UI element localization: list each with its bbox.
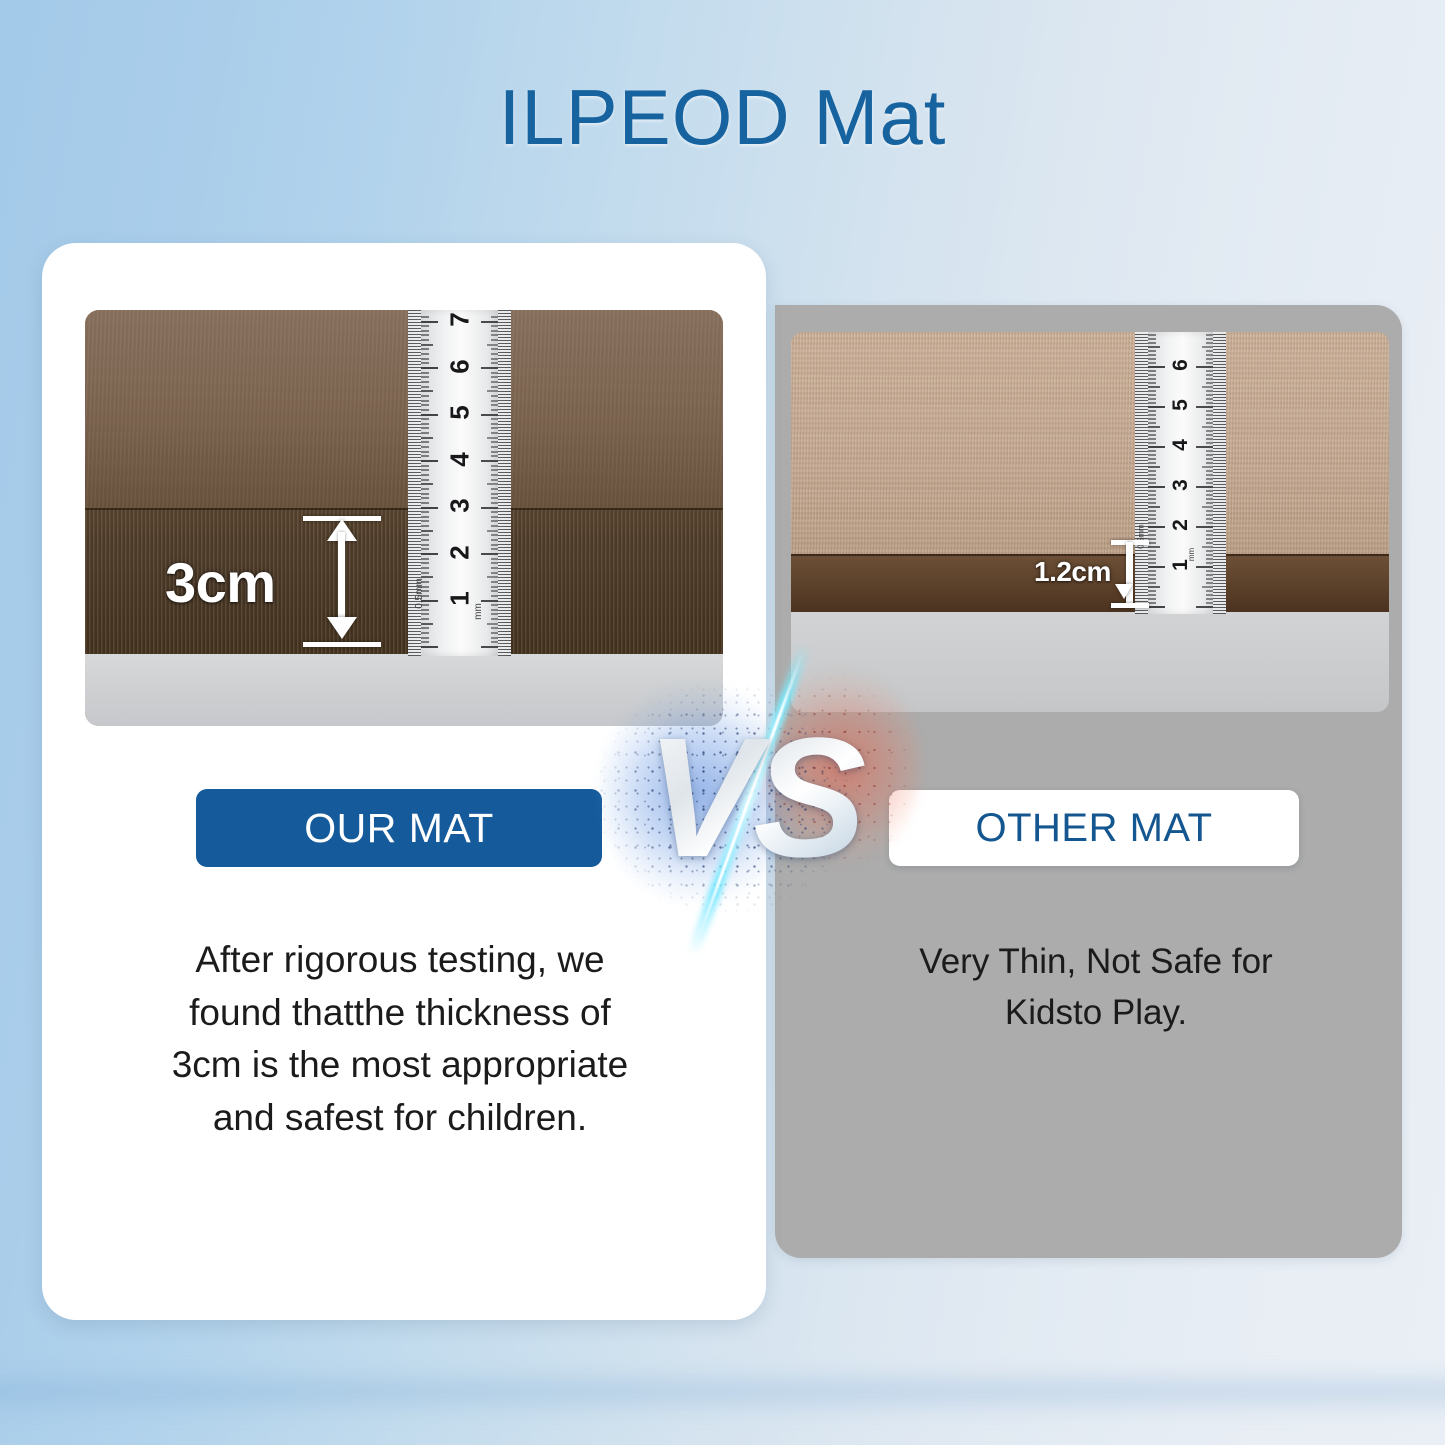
- ruler-tick: [421, 627, 429, 629]
- ruler-tick: [1148, 490, 1156, 492]
- ruler-tick: [1206, 390, 1213, 392]
- ruler-tick: [491, 479, 498, 481]
- ruler-tick: [421, 441, 429, 443]
- ruler-tick: [421, 381, 429, 383]
- ruler-tick: [491, 497, 498, 499]
- ruler-knurl-right-icon: [1213, 332, 1226, 614]
- ruler-tick: [1206, 590, 1213, 592]
- ruler-tick: [1202, 586, 1213, 588]
- ruler-tick: [1148, 346, 1160, 348]
- ruler-tick: [1148, 342, 1156, 344]
- ruler-tick: [1148, 522, 1156, 524]
- ruler-tick: [491, 618, 498, 620]
- ruler-tick: [1148, 454, 1156, 456]
- ruler-tick: [1206, 518, 1213, 520]
- ruler-tick: [1206, 362, 1213, 364]
- ruler-tick: [491, 502, 498, 504]
- ruler-tick: [1196, 526, 1213, 528]
- other-thickness-dimension: [1111, 540, 1149, 608]
- ruler-tick: [1148, 498, 1156, 500]
- ruler-tick: [491, 465, 498, 467]
- ruler-tick: [1148, 530, 1156, 532]
- ruler-tick: [1206, 334, 1213, 336]
- ruler-tick: [421, 637, 429, 639]
- ruler-tick: [1148, 402, 1156, 404]
- ruler-tick: [1148, 450, 1156, 452]
- ruler-tick: [421, 623, 433, 625]
- ruler-tick: [421, 414, 438, 416]
- ruler-tick: [421, 600, 438, 602]
- ruler-tick: [421, 344, 433, 346]
- ruler-tick: [1206, 578, 1213, 580]
- ruler-tick: [421, 427, 429, 429]
- our-mat-description: After rigorous testing, we found thatthe…: [122, 934, 678, 1144]
- ruler-tick: [421, 479, 429, 481]
- ruler-tick: [491, 316, 498, 318]
- ruler-tick: [1206, 418, 1213, 420]
- ruler-tick: [1148, 594, 1156, 596]
- ruler-tick: [421, 465, 429, 467]
- ruler-tick: [491, 423, 498, 425]
- other-mat-photo: 0.5mm mm 7654321 1.2cm: [791, 332, 1389, 712]
- ruler-tick: [421, 604, 429, 606]
- our-mat-surface: [85, 310, 723, 512]
- ruler-tick: [1148, 434, 1156, 436]
- our-mat-floor: [85, 654, 723, 726]
- ruler-tick: [421, 339, 429, 341]
- ruler-tick: [1206, 554, 1213, 556]
- ruler-tick: [1148, 542, 1156, 544]
- ruler-tick: [481, 600, 498, 602]
- ruler-tick: [481, 460, 498, 462]
- ruler-tick: [1206, 398, 1213, 400]
- ruler-tick: [421, 530, 433, 532]
- ruler-tick: [1148, 422, 1156, 424]
- ruler-tick: [421, 567, 429, 569]
- ruler-tick: [421, 432, 429, 434]
- ruler-tick: [421, 497, 429, 499]
- ruler-tick: [491, 358, 498, 360]
- our-thickness-dimension: [303, 516, 381, 648]
- ruler-tick: [1148, 386, 1160, 388]
- our-mat-badge[interactable]: OUR MAT: [196, 789, 602, 867]
- ruler-tick: [1148, 482, 1156, 484]
- other-thickness-label: 1.2cm: [1034, 556, 1111, 588]
- ruler-tick: [1206, 490, 1213, 492]
- ruler-tick: [1148, 534, 1156, 536]
- ruler-tick: [487, 344, 498, 346]
- bottom-glow-band: [0, 1370, 1445, 1416]
- ruler-tick: [1206, 354, 1213, 356]
- ruler-tick: [421, 507, 438, 509]
- ruler-tick: [1206, 558, 1213, 560]
- ruler-numeral: 6: [1169, 355, 1193, 375]
- ruler-tick: [1206, 338, 1213, 340]
- ruler-tick: [421, 632, 429, 634]
- ruler-tick: [421, 572, 429, 574]
- ruler-numeral: 1: [1169, 555, 1193, 575]
- ruler-tick: [1206, 358, 1213, 360]
- ruler-tick: [1148, 466, 1160, 468]
- ruler-tick: [421, 576, 433, 578]
- ruler-tick: [491, 334, 498, 336]
- ruler-numeral: 5: [1169, 395, 1193, 415]
- ruler-tick: [1148, 546, 1160, 548]
- ruler-tick: [491, 376, 498, 378]
- ruler-tick: [421, 451, 429, 453]
- ruler-tick: [1206, 510, 1213, 512]
- ruler-tick: [491, 534, 498, 536]
- ruler-tick: [421, 386, 429, 388]
- ruler-tick: [1148, 550, 1156, 552]
- ruler-tick: [491, 409, 498, 411]
- ruler-tick: [491, 446, 498, 448]
- dim-cap-bottom: [303, 642, 381, 647]
- ruler-tick: [1196, 486, 1213, 488]
- dim-arrowhead-down-icon: [327, 617, 357, 639]
- ruler-tick: [1148, 526, 1165, 528]
- ruler-tick: [491, 353, 498, 355]
- ruler-tick: [421, 474, 429, 476]
- other-mat-surface: [791, 332, 1389, 557]
- ruler-tick: [421, 446, 429, 448]
- ruler-tick: [491, 609, 498, 611]
- ruler-tick: [491, 386, 498, 388]
- ruler-tick: [421, 520, 429, 522]
- ruler-tick: [421, 641, 429, 643]
- ruler-tick: [1202, 506, 1213, 508]
- ruler-tick: [1206, 394, 1213, 396]
- ruler-tick: [1148, 390, 1156, 392]
- ruler-tick: [491, 637, 498, 639]
- ruler-tick: [1206, 458, 1213, 460]
- ruler-tick: [1206, 374, 1213, 376]
- ruler-tick: [487, 483, 498, 485]
- other-mat-floor: [791, 612, 1389, 712]
- ruler-tick: [1148, 570, 1156, 572]
- ruler-tick: [491, 339, 498, 341]
- ruler-tick: [1206, 350, 1213, 352]
- ruler-tick: [491, 562, 498, 564]
- ruler-tick: [1202, 386, 1213, 388]
- ruler-tick: [1148, 602, 1156, 604]
- ruler-tick: [491, 432, 498, 434]
- ruler-tick: [421, 609, 429, 611]
- ruler-tick: [421, 353, 429, 355]
- ruler-numeral: 4: [1169, 435, 1193, 455]
- ruler-tick: [421, 395, 429, 397]
- ruler-tick: [491, 520, 498, 522]
- ruler-tick: [1148, 478, 1156, 480]
- ruler-knurl-right-icon: [498, 310, 511, 656]
- ruler-tick: [421, 460, 438, 462]
- ruler-tick: [1148, 598, 1156, 600]
- ruler-tick: [1148, 398, 1156, 400]
- ruler-tick: [481, 553, 498, 555]
- ruler-tick: [1148, 438, 1156, 440]
- ruler-tick: [491, 372, 498, 374]
- ruler-numeral: 3: [444, 496, 475, 516]
- ruler-tick: [1148, 514, 1156, 516]
- ruler-tick: [1148, 586, 1160, 588]
- ruler-tick: [1148, 554, 1156, 556]
- ruler-tick: [421, 376, 429, 378]
- ruler-tick: [1148, 486, 1165, 488]
- ruler-tick: [421, 483, 433, 485]
- ruler-tick: [421, 316, 429, 318]
- ruler-numeral: 6: [444, 356, 475, 376]
- ruler-tick: [491, 427, 498, 429]
- ruler-tick: [1206, 382, 1213, 384]
- ruler-tick: [1206, 562, 1213, 564]
- our-mat-ruler: 0.5mm mm 7654321: [408, 310, 511, 656]
- ruler-tick: [421, 548, 429, 550]
- ruler-tick: [421, 613, 429, 615]
- ruler-tick: [491, 455, 498, 457]
- ruler-tick: [421, 423, 429, 425]
- ruler-tick: [421, 646, 438, 648]
- ruler-tick: [491, 348, 498, 350]
- ruler-tick: [421, 437, 433, 439]
- ruler-tick: [487, 623, 498, 625]
- ruler-tick: [1196, 446, 1213, 448]
- ruler-tick: [1206, 602, 1213, 604]
- ruler-tick: [1148, 470, 1156, 472]
- ruler-tick: [1148, 366, 1165, 368]
- ruler-numeral: 7: [1169, 332, 1193, 335]
- ruler-tick: [421, 534, 429, 536]
- ruler-tick: [421, 372, 429, 374]
- ruler-tick: [481, 646, 498, 648]
- ruler-tick: [491, 493, 498, 495]
- ruler-tick: [491, 395, 498, 397]
- ruler-tick: [1148, 562, 1156, 564]
- ruler-tick: [421, 404, 429, 406]
- ruler-tick: [1202, 466, 1213, 468]
- ruler-tick: [1202, 426, 1213, 428]
- ruler-tick: [481, 414, 498, 416]
- ruler-tick: [491, 330, 498, 332]
- ruler-tick: [421, 358, 429, 360]
- ruler-tick: [421, 325, 429, 327]
- our-thickness-label: 3cm: [165, 550, 276, 615]
- ruler-tick: [1196, 606, 1213, 608]
- ruler-tick: [491, 558, 498, 560]
- infographic-canvas: ILPEOD Mat 0.5mm mm 7654321 1.2cm: [0, 0, 1445, 1445]
- ruler-tick: [487, 390, 498, 392]
- ruler-tick: [1148, 382, 1156, 384]
- ruler-tick: [421, 558, 429, 560]
- ruler-tick: [1206, 474, 1213, 476]
- ruler-tick: [1148, 430, 1156, 432]
- ruler-tick: [1206, 370, 1213, 372]
- ruler-tick: [421, 493, 429, 495]
- ruler-tick: [1196, 566, 1213, 568]
- ruler-tick: [491, 544, 498, 546]
- ruler-tick: [1206, 442, 1213, 444]
- ruler-tick: [1148, 418, 1156, 420]
- ruler-tick: [421, 409, 429, 411]
- ruler-tick: [1148, 462, 1156, 464]
- ruler-tick: [1148, 558, 1156, 560]
- other-mat-badge[interactable]: OTHER MAT: [889, 790, 1299, 866]
- ruler-tick: [421, 418, 429, 420]
- ruler-tick: [491, 632, 498, 634]
- ruler-tick: [1148, 510, 1156, 512]
- ruler-tick: [1148, 334, 1156, 336]
- ruler-tick: [491, 516, 498, 518]
- ruler-tick: [1148, 362, 1156, 364]
- ruler-tick: [1206, 598, 1213, 600]
- ruler-tick: [491, 590, 498, 592]
- ruler-tick: [1148, 354, 1156, 356]
- ruler-tick: [1206, 414, 1213, 416]
- ruler-tick: [1206, 550, 1213, 552]
- ruler-tick: [421, 544, 429, 546]
- ruler-tick: [491, 641, 498, 643]
- ruler-tick: [491, 604, 498, 606]
- ruler-tick: [421, 586, 429, 588]
- ruler-tick: [1206, 482, 1213, 484]
- ruler-tick: [1148, 406, 1165, 408]
- other-mat-description: Very Thin, Not Safe for Kidsto Play.: [852, 936, 1340, 1038]
- ruler-tick: [491, 548, 498, 550]
- ruler-tick: [1148, 414, 1156, 416]
- ruler-tick: [421, 362, 429, 364]
- ruler-tick: [1206, 538, 1213, 540]
- ruler-tick: [1148, 442, 1156, 444]
- ruler-tick: [421, 367, 438, 369]
- ruler-tick: [491, 418, 498, 420]
- ruler-tick: [1148, 446, 1165, 448]
- ruler-tick: [421, 525, 429, 527]
- ruler-tick: [1206, 342, 1213, 344]
- ruler-tick: [1148, 566, 1165, 568]
- ruler-tick: [487, 530, 498, 532]
- ruler-tick: [1148, 350, 1156, 352]
- ruler-tick: [1206, 454, 1213, 456]
- ruler-numeral: 2: [444, 542, 475, 562]
- ruler-tick: [421, 595, 429, 597]
- ruler-tick: [1206, 570, 1213, 572]
- ruler-tick: [491, 613, 498, 615]
- ruler-tick: [491, 488, 498, 490]
- ruler-tick: [1202, 546, 1213, 548]
- ruler-tick: [1206, 582, 1213, 584]
- ruler-tick: [1148, 458, 1156, 460]
- ruler-tick: [491, 469, 498, 471]
- ruler-tick: [421, 581, 429, 583]
- ruler-tick: [1196, 366, 1213, 368]
- ruler-tick: [1148, 502, 1156, 504]
- ruler-tick: [421, 553, 438, 555]
- ruler-tick: [1148, 538, 1156, 540]
- ruler-tick: [1148, 590, 1156, 592]
- ruler-tick: [421, 455, 429, 457]
- ruler-tick: [1206, 470, 1213, 472]
- ruler-tick: [1206, 430, 1213, 432]
- our-mat-photo: 0.5mm mm 7654321 3cm: [85, 310, 723, 726]
- ruler-tick: [1206, 594, 1213, 596]
- ruler-tick: [1206, 378, 1213, 380]
- ruler-tick: [1206, 422, 1213, 424]
- ruler-tick: [1148, 494, 1156, 496]
- ruler-tick: [487, 437, 498, 439]
- ruler-tick: [421, 330, 429, 332]
- ruler-numeral: 5: [444, 403, 475, 423]
- ruler-tick: [491, 595, 498, 597]
- ruler-tick: [421, 590, 429, 592]
- ruler-tick: [421, 502, 429, 504]
- ruler-tick: [491, 325, 498, 327]
- ruler-numeral: 2: [1169, 515, 1193, 535]
- ruler-tick: [421, 488, 429, 490]
- ruler-tick: [421, 348, 429, 350]
- ruler-tick: [1206, 534, 1213, 536]
- ruler-tick: [491, 525, 498, 527]
- ruler-tick: [1148, 574, 1156, 576]
- ruler-tick: [1206, 498, 1213, 500]
- ruler-tick: [491, 581, 498, 583]
- ruler-tick: [421, 390, 433, 392]
- ruler-numeral: 3: [1169, 475, 1193, 495]
- dim-arrowhead-down-icon: [1115, 584, 1133, 599]
- ruler-tick: [1206, 514, 1213, 516]
- ruler-tick: [1148, 410, 1156, 412]
- ruler-tick: [1148, 358, 1156, 360]
- ruler-tick: [1148, 578, 1156, 580]
- ruler-tick: [421, 516, 429, 518]
- ruler-tick: [491, 572, 498, 574]
- ruler-tick: [1148, 506, 1160, 508]
- ruler-tick: [1148, 582, 1156, 584]
- ruler-tick: [421, 539, 429, 541]
- ruler-tick: [1148, 426, 1160, 428]
- ruler-tick: [481, 507, 498, 509]
- ruler-tick: [491, 586, 498, 588]
- ruler-tick: [491, 362, 498, 364]
- ruler-tick: [1148, 378, 1156, 380]
- ruler-tick: [421, 469, 429, 471]
- ruler-tick: [1206, 530, 1213, 532]
- ruler-tick: [421, 321, 438, 323]
- ruler-numeral: 1: [444, 589, 475, 609]
- ruler-tick: [421, 400, 429, 402]
- ruler-tick: [491, 474, 498, 476]
- ruler-tick: [491, 627, 498, 629]
- ruler-tick: [491, 404, 498, 406]
- ruler-numeral: 4: [444, 449, 475, 469]
- ruler-tick: [1202, 346, 1213, 348]
- ruler-tick: [1148, 374, 1156, 376]
- ruler-tick: [1206, 402, 1213, 404]
- ruler-tick: [421, 618, 429, 620]
- ruler-tick: [491, 567, 498, 569]
- dim-cap-bottom: [1111, 603, 1149, 608]
- ruler-tick: [481, 367, 498, 369]
- ruler-tick: [1206, 502, 1213, 504]
- ruler-tick: [421, 562, 429, 564]
- ruler-tick: [1206, 450, 1213, 452]
- ruler-tick: [1148, 394, 1156, 396]
- ruler-tick: [1206, 462, 1213, 464]
- ruler-tick: [487, 576, 498, 578]
- ruler-tick: [421, 334, 429, 336]
- ruler-tick: [491, 539, 498, 541]
- ruler-tick: [491, 400, 498, 402]
- ruler-tick: [1206, 522, 1213, 524]
- ruler-tick: [1148, 370, 1156, 372]
